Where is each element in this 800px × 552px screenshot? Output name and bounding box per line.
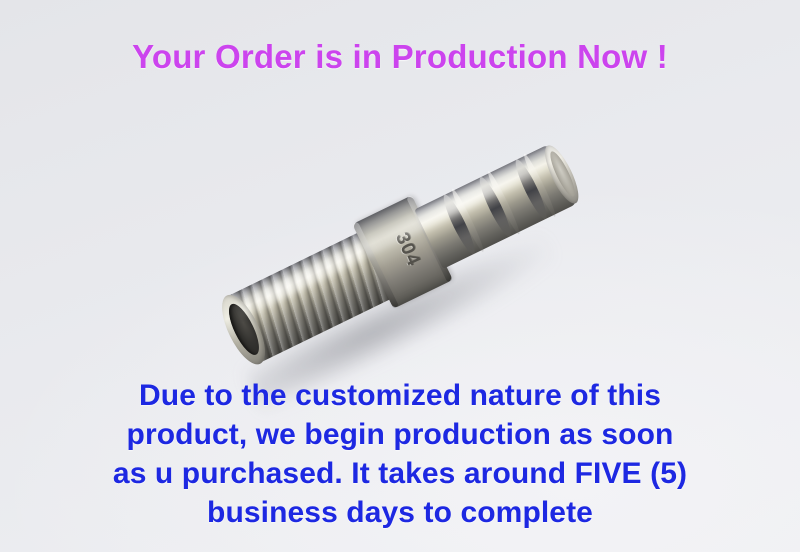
notice-line-1: Due to the customized nature of this (0, 376, 800, 415)
notice-line-4: business days to complete (0, 493, 800, 532)
notice-line-2: product, we begin production as soon (0, 415, 800, 454)
product-photo: 304 (0, 120, 800, 375)
production-notice: Due to the customized nature of this pro… (0, 376, 800, 532)
notice-line-3: as u purchased. It takes around FIVE (5) (0, 454, 800, 493)
order-production-banner: Your Order is in Production Now ! 304 (0, 0, 800, 552)
headline-text: Your Order is in Production Now ! (0, 38, 800, 76)
hose-barb-fitting-image: 304 (196, 138, 596, 368)
